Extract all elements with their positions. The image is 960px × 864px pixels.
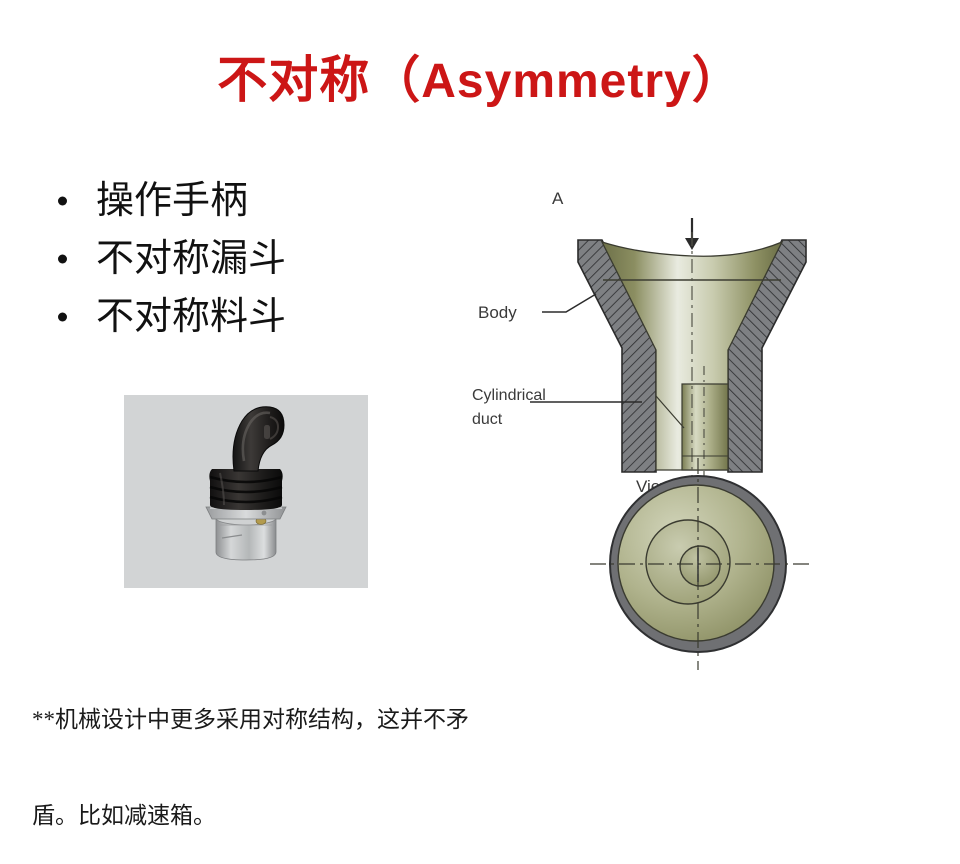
footnote-line-2: 盾。比如减速箱。 [32,800,482,832]
list-item: 不对称漏斗 [52,230,452,288]
plan-duct-circle [680,546,720,586]
joystick-photo [124,395,368,588]
list-item-label: 不对称漏斗 [96,238,286,280]
cylindrical-duct-label-line1: Cylindrical [472,387,546,404]
list-item-label: 操作手柄 [96,180,248,222]
view-a-plan [590,458,810,670]
cylindrical-duct-label-line2: duct [472,411,503,428]
bullet-dot-icon [58,197,67,206]
list-item: 不对称料斗 [52,288,452,346]
page-title-cjk-tail: ） [692,52,743,108]
list-item: 操作手柄 [52,172,452,230]
bullet-dot-icon [58,255,67,264]
page-title: 不对称（Asymmetry） [0,50,960,112]
hopper-technical-drawing: A Body Cylindrical duct View A [470,170,900,670]
list-item-label: 不对称料斗 [96,296,286,338]
page-title-cjk-lead: 不对称（ [217,52,421,108]
joystick-illustration [124,395,368,588]
body-leader-line [542,294,596,312]
bullet-list: 操作手柄 不对称漏斗 不对称料斗 [52,172,452,346]
page-title-latin: Asymmetry [421,55,691,108]
body-label: Body [478,303,517,322]
cylindrical-duct-bore [682,384,728,470]
footnote-line-1: **机械设计中更多采用对称结构，这并不矛 [32,704,482,736]
section-label-a: A [552,189,564,208]
bullet-dot-icon [58,313,67,322]
hopper-cross-section-svg: A Body Cylindrical duct View A [470,170,900,670]
footnote-caption: **机械设计中更多采用对称结构，这并不矛 盾。比如减速箱。 [32,640,482,864]
